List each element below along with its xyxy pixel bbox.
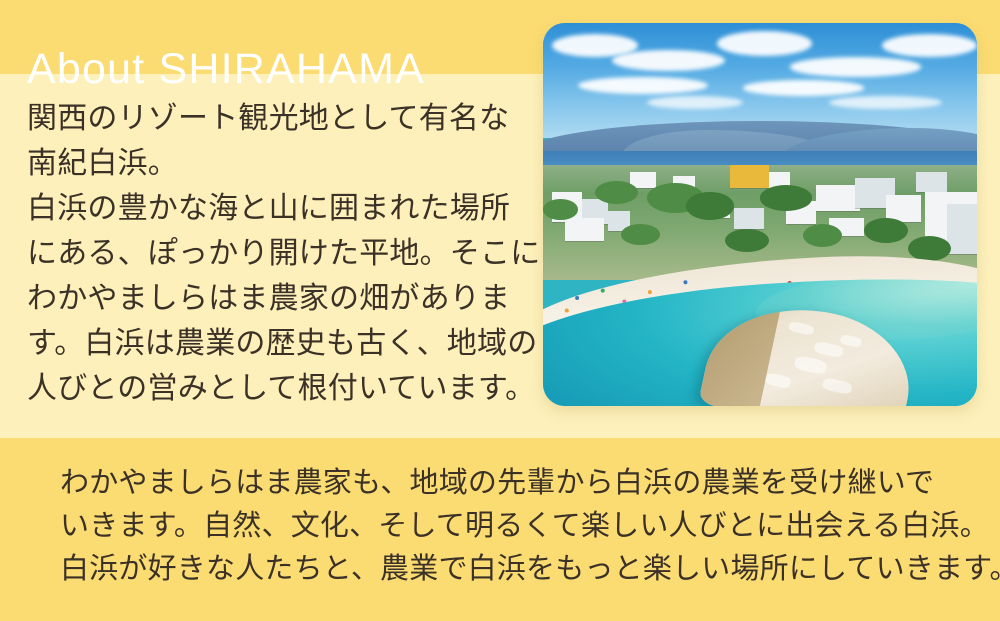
about-shirahama-panel: About SHIRAHAMA 関西のリゾート観光地として有名な 南紀白浜。 白… <box>0 0 1000 621</box>
intro-paragraph: 関西のリゾート観光地として有名な 南紀白浜。 白浜の豊かな海と山に囲まれた場所 … <box>27 96 519 411</box>
intro-line-3: 白浜の豊かな海と山に囲まれた場所 <box>27 186 519 231</box>
intro-line-7: 人びとの営みとして根付いています。 <box>27 366 519 411</box>
intro-line-2: 南紀白浜。 <box>27 141 519 186</box>
page-title: About SHIRAHAMA <box>27 45 425 93</box>
intro-line-5: わかやましらはま農家の畑がありま <box>27 276 519 321</box>
shirahama-beach-photo <box>543 23 977 406</box>
intro-line-1: 関西のリゾート観光地として有名な <box>27 96 519 141</box>
footer-paragraph: わかやましらはま農家も、地域の先輩から白浜の農業を受け継いで いきます。自然、文… <box>60 462 960 591</box>
footer-line-3: 白浜が好きな人たちと、農業で白浜をもっと楽しい場所にしていきます。 <box>60 548 960 591</box>
footer-line-1: わかやましらはま農家も、地域の先輩から白浜の農業を受け継いで <box>60 462 960 505</box>
photo-illustration <box>543 23 977 406</box>
footer-line-2: いきます。自然、文化、そして明るくて楽しい人びとに出会える白浜。 <box>60 505 960 548</box>
intro-line-4: にある、ぽっかり開けた平地。そこに <box>27 231 519 276</box>
intro-line-6: す。白浜は農業の歴史も古く、地域の <box>27 321 519 366</box>
